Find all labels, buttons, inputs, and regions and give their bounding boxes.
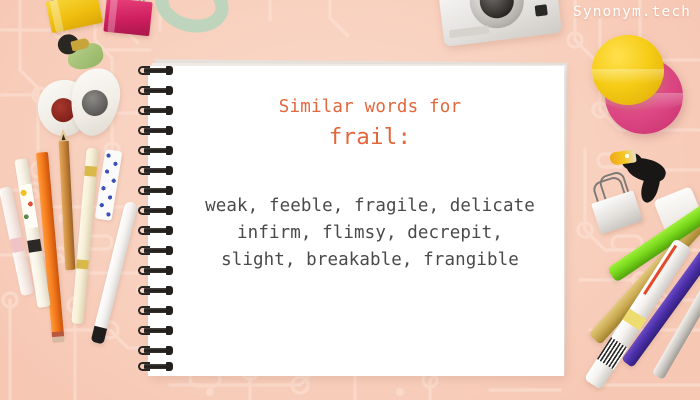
spiral-notebook: Similar words for frail: weak, feeble, f…	[148, 66, 568, 378]
spiral-binding	[138, 62, 182, 380]
desk-scene: Similar words for frail: weak, feeble, f…	[0, 0, 700, 400]
pen-dotted-strip	[95, 149, 123, 221]
pencil-wood-dark	[59, 140, 76, 270]
heading-prefix: Similar words for	[192, 96, 548, 120]
binder-clip-magenta	[103, 0, 155, 40]
mint-ring	[149, 0, 234, 40]
pen-cream	[71, 148, 98, 324]
camera	[436, 0, 562, 47]
pen-white	[91, 201, 139, 345]
synonyms-list: weak, feeble, fragile, delicate infirm, …	[192, 193, 548, 273]
notebook-content: Similar words for frail: weak, feeble, f…	[192, 96, 548, 273]
brand-logo[interactable]: Synonym.tech	[573, 4, 691, 20]
macaron-yellow	[592, 35, 664, 105]
query-word: frail:	[192, 121, 548, 155]
